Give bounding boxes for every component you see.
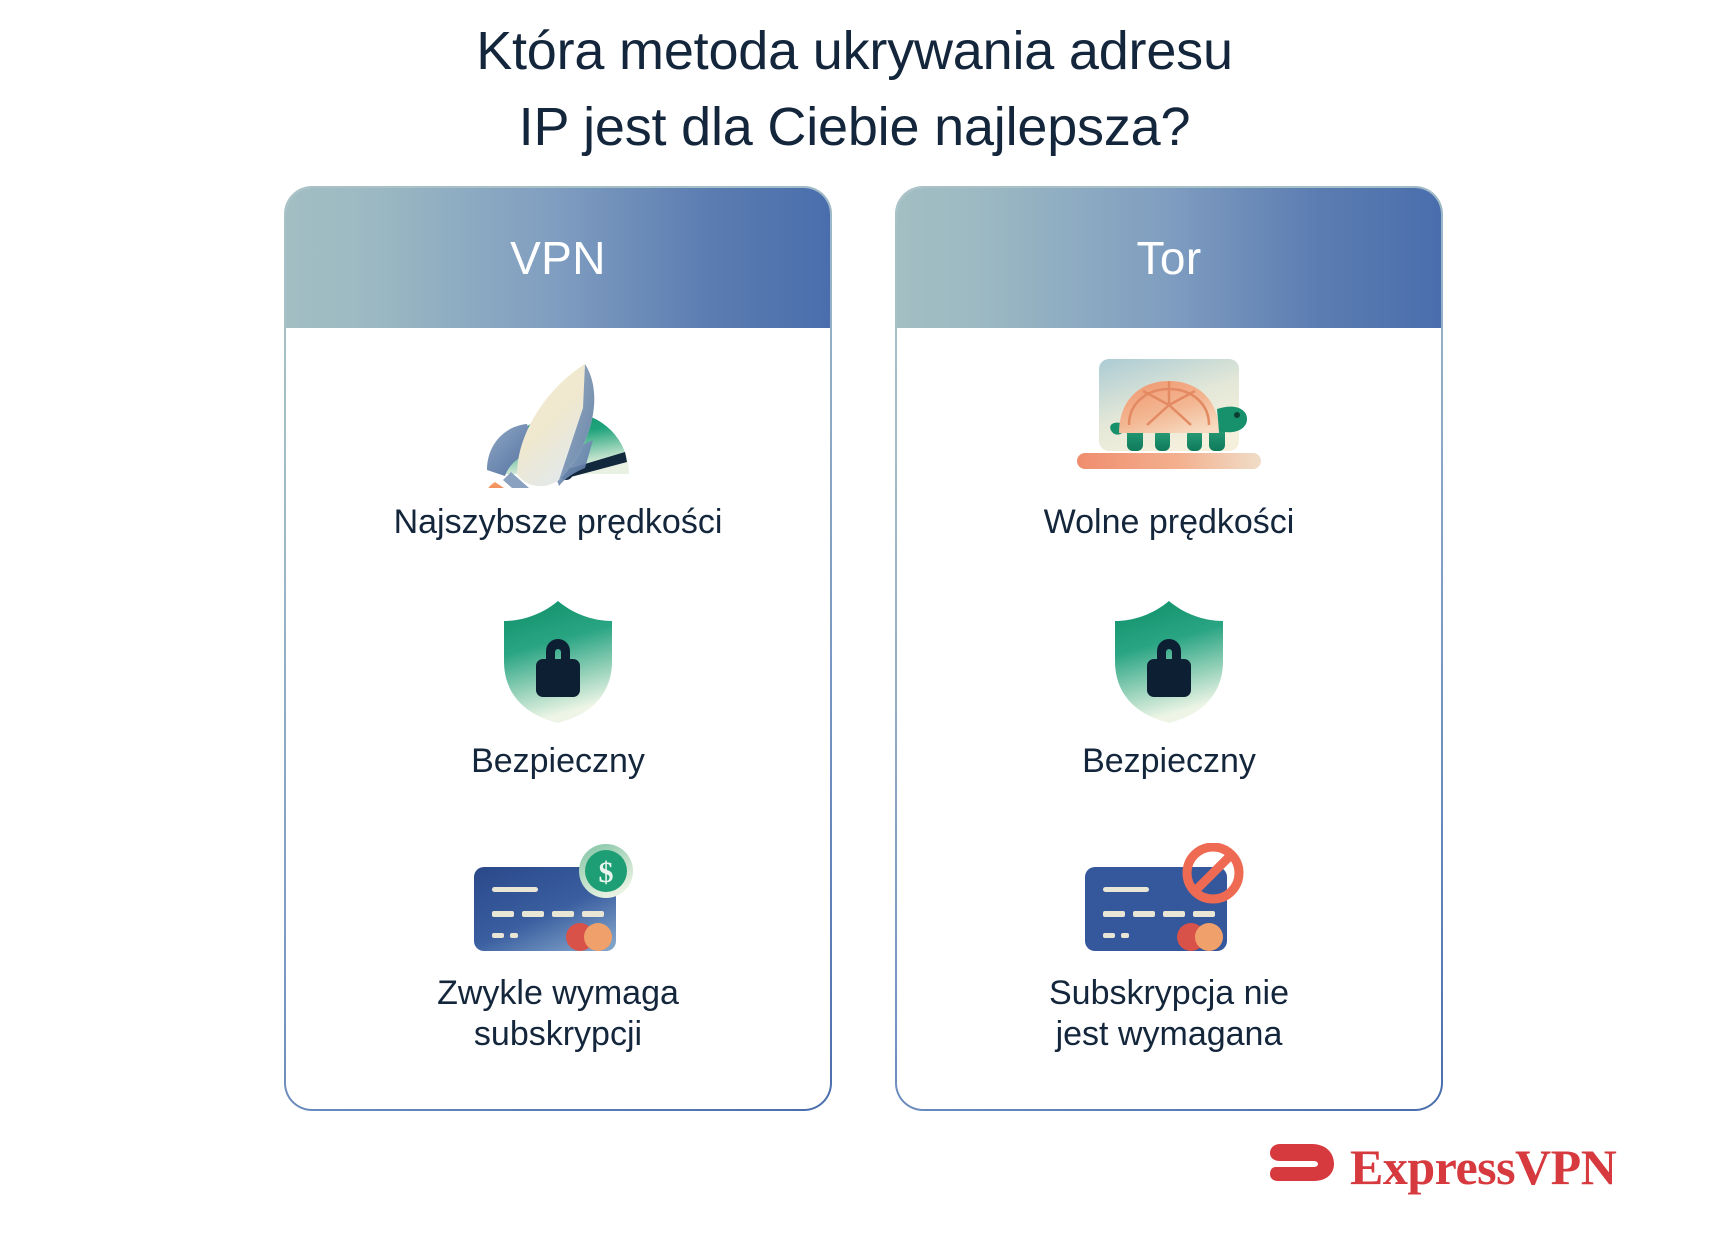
feature-label-line-2: jest wymagana xyxy=(1056,1015,1283,1053)
expressvpn-mark-icon xyxy=(1270,1138,1336,1195)
feature-label-subscription-vpn: Zwykle wymaga subskrypcji xyxy=(437,973,679,1056)
page-title-line-1: Która metoda ukrywania adresu xyxy=(0,14,1709,90)
page-title-line-2: IP jest dla Ciebie najlepsza? xyxy=(0,90,1709,166)
svg-text:$: $ xyxy=(599,856,614,889)
shield-lock-icon xyxy=(1109,597,1229,727)
card-header-title-tor: Tor xyxy=(1136,231,1201,285)
card-header-tor: Tor xyxy=(897,188,1441,328)
feature-label-security-tor: Bezpieczny xyxy=(1082,741,1256,782)
feature-label-speed-vpn: Najszybsze prędkości xyxy=(394,502,723,543)
feature-label-line-1: Zwykle wymaga xyxy=(437,974,679,1012)
comparison-cards: VPN xyxy=(284,186,1444,1111)
shield-lock-icon xyxy=(498,597,618,727)
credit-card-prohibited-icon xyxy=(1079,839,1259,959)
feature-speed-vpn: Najszybsze prędkości xyxy=(286,348,830,543)
credit-card-dollar-icon: $ xyxy=(468,839,648,959)
expressvpn-logo: ExpressVPN xyxy=(1270,1138,1616,1195)
card-body-tor: Wolne prędkości xyxy=(897,328,1441,1109)
comparison-card-vpn: VPN xyxy=(284,186,832,1111)
feature-label-line-1: Subskrypcja nie xyxy=(1049,974,1289,1012)
infographic-page: Która metoda ukrywania adresu IP jest dl… xyxy=(0,0,1709,1240)
feature-label-subscription-tor: Subskrypcja nie jest wymagana xyxy=(1049,973,1289,1056)
card-body-vpn: Najszybsze prędkości xyxy=(286,328,830,1109)
feature-security-vpn: Bezpieczny xyxy=(286,597,830,782)
card-header-vpn: VPN xyxy=(286,188,830,328)
comparison-card-tor: Tor xyxy=(895,186,1443,1111)
card-header-title-vpn: VPN xyxy=(510,231,606,285)
feature-subscription-vpn: $ Zwykle wymaga subskrypcji xyxy=(286,839,830,1056)
page-title: Która metoda ukrywania adresu IP jest dl… xyxy=(0,14,1709,165)
turtle-laptop-icon xyxy=(1069,348,1269,488)
rocket-speedometer-icon xyxy=(453,348,663,488)
feature-security-tor: Bezpieczny xyxy=(897,597,1441,782)
expressvpn-wordmark: ExpressVPN xyxy=(1350,1142,1616,1192)
feature-label-security-vpn: Bezpieczny xyxy=(471,741,645,782)
feature-subscription-tor: Subskrypcja nie jest wymagana xyxy=(897,839,1441,1056)
feature-speed-tor: Wolne prędkości xyxy=(897,348,1441,543)
feature-label-speed-tor: Wolne prędkości xyxy=(1044,502,1295,543)
feature-label-line-2: subskrypcji xyxy=(474,1015,642,1053)
